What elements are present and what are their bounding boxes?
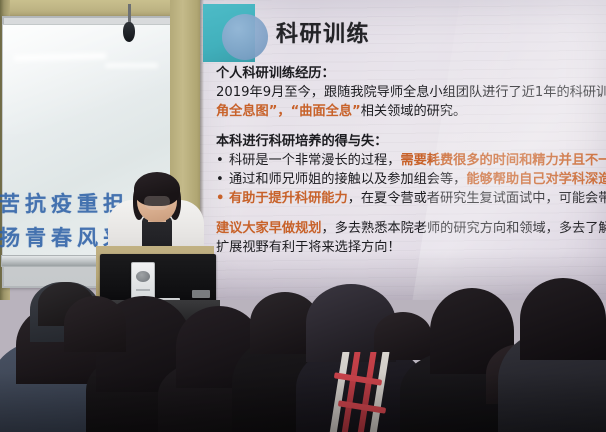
slide-bullet-1-plain: 科研是一个非常漫长的过程， [229, 153, 400, 168]
presenter-face-shadow [144, 196, 170, 210]
slide-section3-highlight: 建议大家早做规划 [216, 221, 322, 236]
slide-section1-heading: 个人科研训练经历： [216, 64, 606, 83]
hanging-weight-icon [123, 22, 135, 42]
monitor-brand-badge-icon [192, 290, 210, 298]
bullet-marker-icon: • [216, 170, 229, 189]
slide-section2-heading: 本科进行科研培养的得与失： [216, 132, 606, 151]
slide-bullet-2-highlight: 能够帮助自己对学科深造有 [466, 172, 606, 187]
striped-jacket [316, 352, 436, 432]
slide-title: 科研训练 [276, 16, 370, 48]
dell-logo-icon [136, 271, 150, 282]
whiteboard-glare [3, 25, 179, 134]
slide-bullet-1: •科研是一个非常漫长的过程，需要耗费很多的时间和精力并且不一定 [216, 151, 606, 170]
slide-bullet-3-tail: ，在夏令营或者研究生复试面试中，可能会带来 [348, 191, 606, 206]
presenter-monitor [100, 254, 216, 304]
slide-section3-line1: 建议大家早做规划，多去熟悉本院老师的研究方向和领域，多去了解行 [216, 219, 606, 238]
slide-decoration-circle [222, 14, 268, 60]
slide-section3-line1-rest: ，多去熟悉本院老师的研究方向和领域，多去了解行 [322, 221, 606, 236]
projection-screen: 科研训练 个人科研训练经历： 2019年9月至今，跟随我院导师全息小组团队进行了… [200, 0, 606, 300]
audience-head [520, 278, 606, 360]
slide-bullet-1-highlight: 需要耗费很多的时间和精力并且不一定 [400, 153, 606, 168]
slide-section1-line2-rest: 相关领域的研究。 [361, 104, 467, 119]
slide-section1-line2: 角全息图”，“曲面全息”相关领域的研究。 [216, 102, 606, 121]
slide-bullet-2: •通过和师兄师姐的接触以及参加组会等，能够帮助自己对学科深造有 [216, 170, 606, 189]
slide-body: 个人科研训练经历： 2019年9月至今，跟随我院导师全息小组团队进行了近1年的科… [216, 64, 606, 257]
slide-bullet-3-highlight: 有助于提升科研能力 [229, 191, 348, 206]
audience-head [64, 296, 126, 352]
slide-section1-line2-highlight: 角全息图”，“曲面全息” [216, 104, 361, 119]
tower-drive-slot [136, 289, 150, 291]
slide-spacer-1 [216, 121, 606, 132]
lecture-photo-scene: 苦抗疫重担 扬青春风采 科研训练 个人科研训练经历： 2019年9月至今，跟随我… [0, 0, 606, 432]
slide-section1-line1: 2019年9月至今，跟随我院导师全息小组团队进行了近1年的科研训练， [216, 83, 606, 102]
slide-spacer-2 [216, 208, 606, 219]
slide-bullet-2-plain: 通过和师兄师姐的接触以及参加组会等， [229, 172, 466, 187]
slide-bullet-3: •有助于提升科研能力，在夏令营或者研究生复试面试中，可能会带来 [216, 189, 606, 208]
bullet-marker-icon: • [216, 189, 229, 208]
bullet-marker-icon: • [216, 151, 229, 170]
whiteboard-glare-streak-2 [105, 63, 158, 68]
